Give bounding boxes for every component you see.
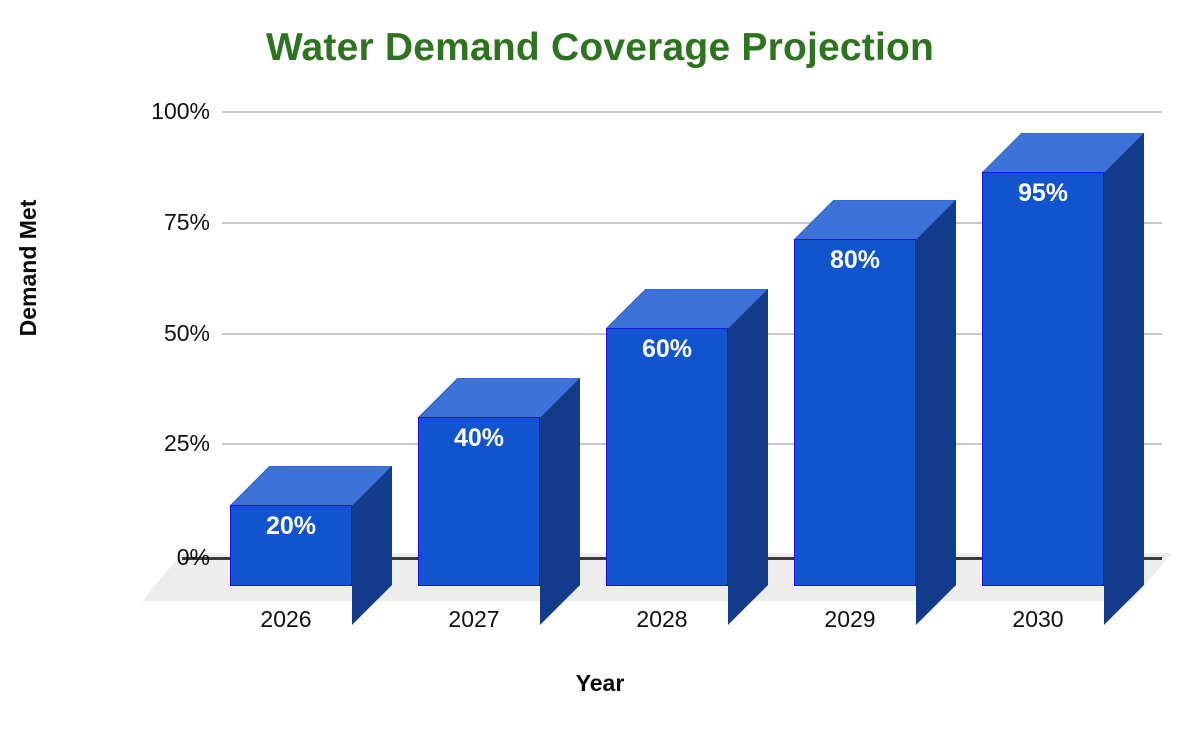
gridline-100: [222, 111, 1162, 113]
bar-side-face-2029: [916, 200, 956, 625]
bar-front-face-2028[interactable]: [606, 328, 728, 586]
bar-side-face-2030: [1104, 133, 1144, 625]
y-tick-label-0: 0%: [100, 544, 210, 571]
plot-area: 100% 75% 50% 25% 0% 20%: [0, 0, 1200, 742]
bar-value-label-2030: 95%: [982, 179, 1104, 208]
bar-side-face-2027: [540, 378, 580, 625]
x-axis-title: Year: [0, 670, 1200, 697]
x-tick-label-2027: 2027: [394, 606, 554, 633]
x-tick-label-2026: 2026: [206, 606, 366, 633]
y-tick-label-75: 75%: [100, 209, 210, 236]
bar-side-face-2026: [352, 466, 392, 625]
bar-value-label-2029: 80%: [794, 246, 916, 275]
x-tick-label-2029: 2029: [770, 606, 930, 633]
bar-value-label-2027: 40%: [418, 424, 540, 453]
bar-side-face-2028: [728, 289, 768, 625]
y-tick-label-100: 100%: [100, 98, 210, 125]
bar-front-face-2030[interactable]: [982, 172, 1104, 586]
chart-container: Water Demand Coverage Projection 100% 75…: [0, 0, 1200, 742]
bar-front-face-2029[interactable]: [794, 239, 916, 586]
x-tick-label-2030: 2030: [958, 606, 1118, 633]
x-tick-label-2028: 2028: [582, 606, 742, 633]
y-tick-label-25: 25%: [100, 430, 210, 457]
y-tick-label-50: 50%: [100, 320, 210, 347]
y-axis-title: Demand Met: [15, 168, 42, 368]
bar-value-label-2026: 20%: [230, 512, 352, 541]
bar-value-label-2028: 60%: [606, 335, 728, 364]
